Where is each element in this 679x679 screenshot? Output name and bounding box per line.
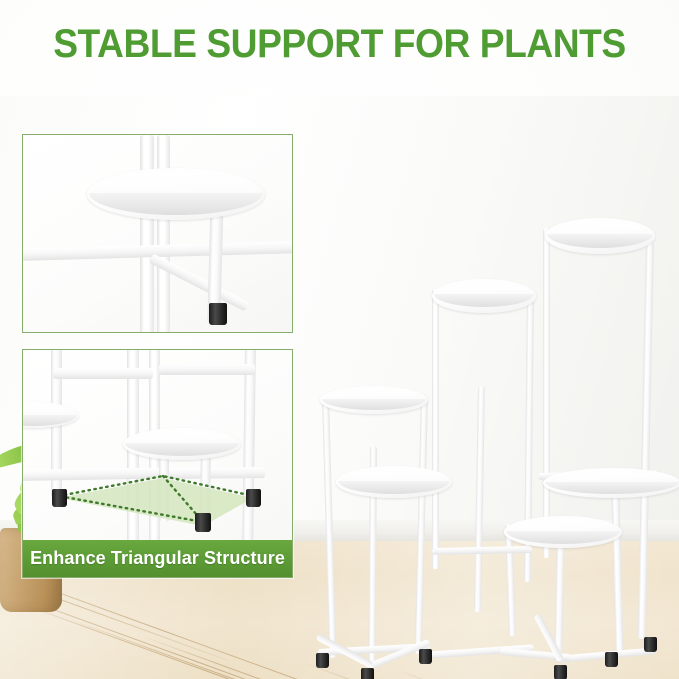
inset-panel-triangle: Enhance Triangular Structure	[22, 349, 293, 578]
foot-cap	[195, 513, 211, 532]
rotation-arrow-icon	[111, 331, 243, 333]
foot-cap	[644, 637, 657, 652]
foot-cap	[209, 303, 227, 325]
inset-panel-rotation	[22, 134, 293, 333]
product-infographic: STABLE SUPPORT FOR PLANTS	[0, 0, 679, 679]
page-title: STABLE SUPPORT FOR PLANTS	[24, 22, 655, 67]
panel-caption-triangle: Enhance Triangular Structure	[23, 540, 292, 577]
foot-cap	[554, 665, 567, 679]
foot-cap	[246, 489, 261, 507]
foot-cap	[52, 489, 67, 507]
foot-cap	[316, 653, 329, 668]
foot-cap	[419, 649, 432, 664]
foot-cap	[605, 652, 618, 667]
foot-cap	[361, 668, 374, 679]
